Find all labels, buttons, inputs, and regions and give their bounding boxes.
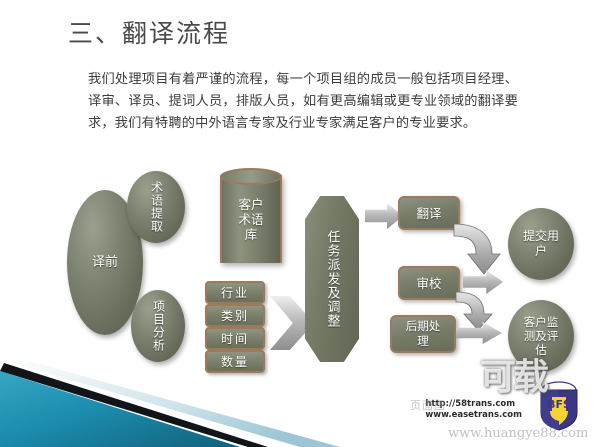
- footer-urls: http://58trans.com www.easetrans.com: [425, 399, 522, 421]
- band-dark: [0, 363, 268, 447]
- badge-letters: BFS: [547, 398, 571, 411]
- database-customer-glossary: 客户术语库: [220, 175, 282, 263]
- attribute-quantity: 数量: [205, 350, 265, 373]
- hub-task-dispatch: 任务派发及调整: [305, 196, 359, 362]
- attribute-time: 时间: [205, 327, 265, 350]
- band-pale: [6, 357, 340, 447]
- attribute-time-label: 时间: [221, 330, 249, 347]
- task-post-processing: 后期处理: [390, 315, 456, 353]
- database-customer-glossary-label: 客户术语库: [234, 197, 268, 242]
- arrow-translation-to-proofreading: [450, 218, 502, 280]
- node-project-analysis-label: 项目分析: [150, 300, 167, 352]
- page-title: 三、翻译流程: [68, 14, 230, 50]
- footer-url-primary[interactable]: http://58trans.com: [425, 399, 522, 410]
- band-teal: [0, 371, 240, 447]
- node-terminology-extraction-label: 术语提取: [148, 181, 165, 233]
- node-project-analysis: 项目分析: [131, 290, 185, 362]
- attribute-category: 类别: [205, 304, 265, 327]
- hub-task-dispatch-label: 任务派发及调整: [324, 230, 341, 328]
- decorative-bands: [0, 357, 340, 447]
- output-submit-to-user: 提交用户: [508, 208, 574, 280]
- body-paragraph: 我们处理项目有着严谨的流程，每一个项目组的成员一般包括项目经理、译审、译员、提词…: [88, 69, 518, 135]
- task-post-processing-label: 后期处理: [401, 319, 445, 349]
- footer-url-secondary[interactable]: www.easetrans.com: [425, 410, 522, 421]
- output-customer-monitoring-label: 客户监测及评估: [521, 315, 561, 357]
- attribute-quantity-label: 数量: [221, 353, 249, 370]
- output-submit-to-user-label: 提交用户: [521, 229, 561, 259]
- bfs-logo-badge: 1997 BFS: [536, 381, 582, 431]
- arrow-proofreading-to-post: [452, 288, 498, 332]
- slide-canvas: 三、翻译流程 我们处理项目有着严谨的流程，每一个项目组的成员一般包括项目经理、译…: [0, 0, 600, 447]
- node-terminology-extraction: 术语提取: [127, 171, 185, 243]
- attribute-industry: 行业: [205, 281, 265, 304]
- task-proofreading-label: 审校: [416, 276, 441, 291]
- stage-pre-translation-label: 译前: [92, 255, 118, 270]
- attribute-industry-label: 行业: [221, 284, 249, 301]
- decorative-bands-svg: [0, 357, 340, 447]
- attribute-category-label: 类别: [221, 307, 249, 324]
- output-customer-monitoring: 客户监测及评估: [508, 300, 574, 372]
- task-translation-label: 翻译: [416, 206, 441, 221]
